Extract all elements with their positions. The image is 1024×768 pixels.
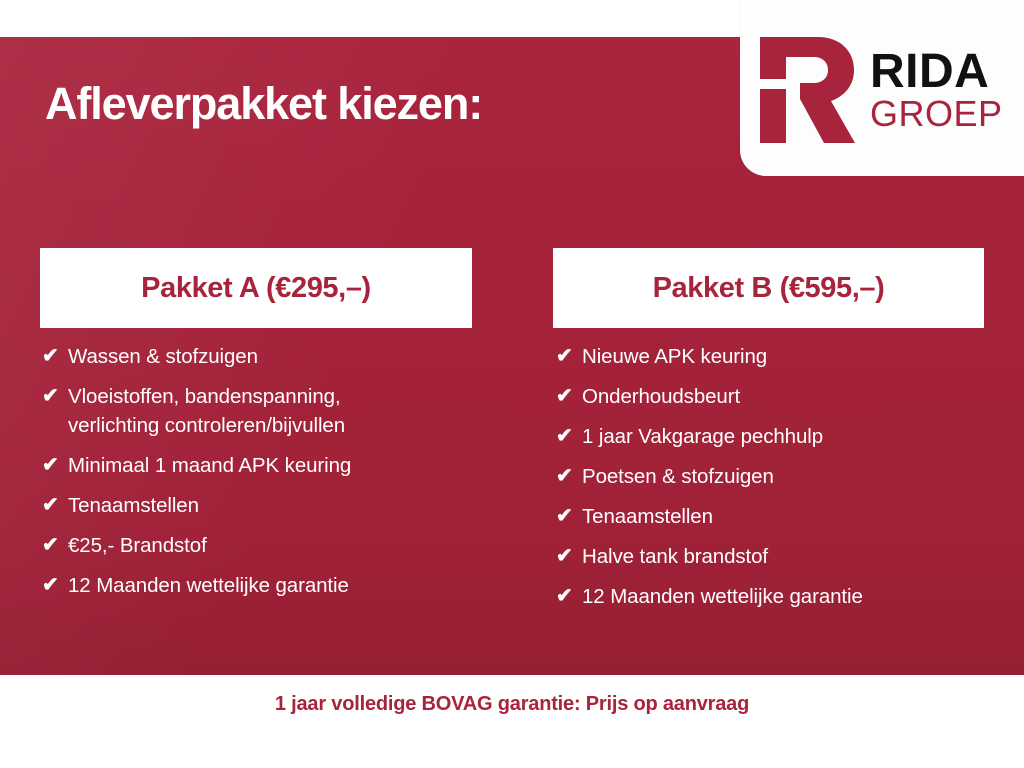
logo-wordmark: RIDA GROEP (870, 50, 1003, 129)
logo-brand-secondary: GROEP (870, 97, 1003, 130)
list-item-label: Onderhoudsbeurt (582, 382, 740, 411)
list-item: ✔Onderhoudsbeurt (556, 382, 1006, 411)
package-card-a[interactable]: Pakket A (€295,–) (40, 248, 472, 328)
check-icon: ✔ (556, 422, 582, 451)
check-icon: ✔ (42, 571, 68, 600)
list-item: ✔Halve tank brandstof (556, 542, 1006, 571)
list-item: ✔Tenaamstellen (42, 491, 512, 520)
list-item: ✔Tenaamstellen (556, 502, 1006, 531)
package-b-feature-list: ✔Nieuwe APK keuring✔Onderhoudsbeurt✔1 ja… (556, 342, 1006, 622)
list-item: ✔Poetsen & stofzuigen (556, 462, 1006, 491)
package-a-feature-list: ✔Wassen & stofzuigen✔Vloeistoffen, bande… (42, 342, 512, 611)
list-item-line: €25,- Brandstof (68, 534, 207, 557)
check-icon: ✔ (42, 451, 68, 480)
logo-lockup: RIDA GROEP (754, 30, 1018, 150)
list-item-line: Nieuwe APK keuring (582, 345, 767, 368)
list-item: ✔Vloeistoffen, bandenspanning,verlichtin… (42, 382, 512, 440)
rida-r-monogram-icon (754, 31, 858, 149)
check-icon: ✔ (42, 342, 68, 371)
logo-panel: RIDA GROEP (740, 0, 1024, 176)
list-item-line: Poetsen & stofzuigen (582, 465, 774, 488)
list-item: ✔1 jaar Vakgarage pechhulp (556, 422, 1006, 451)
list-item-line: Minimaal 1 maand APK keuring (68, 454, 351, 477)
package-card-b[interactable]: Pakket B (€595,–) (553, 248, 984, 328)
list-item-line: 12 Maanden wettelijke garantie (582, 585, 863, 608)
list-item-label: Wassen & stofzuigen (68, 342, 258, 371)
check-icon: ✔ (556, 462, 582, 491)
logo-brand-primary: RIDA (870, 50, 1003, 94)
page-title: Afleverpakket kiezen: (45, 79, 735, 129)
footer-note: 1 jaar volledige BOVAG garantie: Prijs o… (275, 693, 749, 716)
check-icon: ✔ (556, 342, 582, 371)
check-icon: ✔ (42, 491, 68, 520)
list-item: ✔12 Maanden wettelijke garantie (42, 571, 512, 600)
check-icon: ✔ (42, 531, 68, 560)
list-item-label: 12 Maanden wettelijke garantie (68, 571, 349, 600)
check-icon: ✔ (42, 382, 68, 411)
list-item-label: 1 jaar Vakgarage pechhulp (582, 422, 823, 451)
list-item-line: Onderhoudsbeurt (582, 385, 740, 408)
slide-root: Afleverpakket kiezen: RIDA GROEP Pakket … (0, 0, 1024, 768)
list-item-label: €25,- Brandstof (68, 531, 207, 560)
package-b-title: Pakket B (€595,–) (653, 272, 885, 305)
list-item-line: Halve tank brandstof (582, 545, 768, 568)
check-icon: ✔ (556, 382, 582, 411)
list-item-line: Vloeistoffen, bandenspanning, (68, 385, 341, 408)
list-item: ✔Minimaal 1 maand APK keuring (42, 451, 512, 480)
list-item: ✔Wassen & stofzuigen (42, 342, 512, 371)
list-item: ✔€25,- Brandstof (42, 531, 512, 560)
list-item-label: 12 Maanden wettelijke garantie (582, 582, 863, 611)
list-item-label: Vloeistoffen, bandenspanning,verlichting… (68, 382, 345, 440)
list-item-line: Tenaamstellen (68, 494, 199, 517)
list-item-line: verlichting controleren/bijvullen (68, 411, 345, 440)
check-icon: ✔ (556, 502, 582, 531)
list-item-label: Halve tank brandstof (582, 542, 768, 571)
list-item-label: Tenaamstellen (68, 491, 199, 520)
list-item-line: 1 jaar Vakgarage pechhulp (582, 425, 823, 448)
list-item: ✔Nieuwe APK keuring (556, 342, 1006, 371)
list-item-line: Wassen & stofzuigen (68, 345, 258, 368)
list-item-line: Tenaamstellen (582, 505, 713, 528)
check-icon: ✔ (556, 542, 582, 571)
package-a-title: Pakket A (€295,–) (141, 272, 371, 305)
list-item-label: Nieuwe APK keuring (582, 342, 767, 371)
list-item-label: Minimaal 1 maand APK keuring (68, 451, 351, 480)
footer-bar: 1 jaar volledige BOVAG garantie: Prijs o… (0, 675, 1024, 768)
check-icon: ✔ (556, 582, 582, 611)
list-item-label: Poetsen & stofzuigen (582, 462, 774, 491)
list-item: ✔12 Maanden wettelijke garantie (556, 582, 1006, 611)
list-item-line: 12 Maanden wettelijke garantie (68, 574, 349, 597)
list-item-label: Tenaamstellen (582, 502, 713, 531)
